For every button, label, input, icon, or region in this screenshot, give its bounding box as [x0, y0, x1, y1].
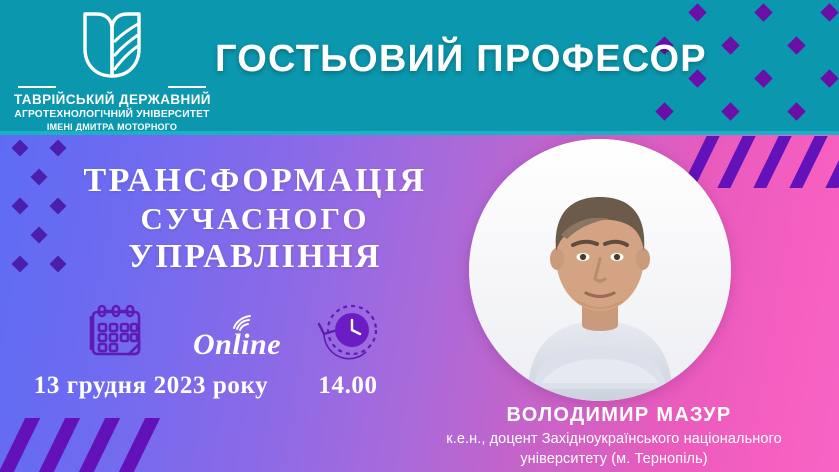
event-time: 14.00 [300, 372, 396, 400]
online-label: Online [193, 328, 281, 361]
speaker-description-line-2: університету (м. Тернопіль) [389, 449, 839, 469]
logo-line-2: АГРОТЕХНОЛОГІЧНИЙ УНІВЕРСИТЕТ [14, 108, 210, 121]
event-title-line-3: УПРАВЛІННЯ [40, 238, 470, 276]
header-accent-line [0, 131, 839, 135]
bottom-stripe-decoration [0, 418, 180, 472]
header-band: ТАВРІЙСЬКИЙ ДЕРЖАВНИЙ АГРОТЕХНОЛОГІЧНИЙ … [0, 0, 839, 135]
event-poster: ТАВРІЙСЬКИЙ ДЕРЖАВНИЙ АГРОТЕХНОЛОГІЧНИЙ … [0, 0, 839, 472]
tulip-leaf-logo-icon [77, 8, 147, 80]
event-info-row: Online 13 грудня 2023 року 14.00 [0, 300, 470, 420]
speaker-name: ВОЛОДИМИР МАЗУР [399, 404, 839, 427]
clock-arrow-icon [310, 300, 382, 366]
calendar-icon [85, 302, 147, 364]
logo-line-1: ТАВРІЙСЬКИЙ ДЕРЖАВНИЙ [14, 92, 210, 108]
event-title-line-2: СУЧАСНОГО [40, 200, 470, 238]
event-title-line-1: ТРАНСФОРМАЦІЯ [40, 162, 470, 200]
logo-divider [14, 82, 210, 92]
university-logo: ТАВРІЙСЬКИЙ ДЕРЖАВНИЙ АГРОТЕХНОЛОГІЧНИЙ … [14, 8, 210, 133]
event-date: 13 грудня 2023 року [6, 372, 296, 400]
speaker-description-line-1: к.е.н., доцент Західноукраїнського націо… [389, 429, 839, 449]
speaker-description: к.е.н., доцент Західноукраїнського націо… [389, 429, 839, 469]
calendar-icon-wrap [78, 302, 154, 369]
clock-icon-wrap [300, 300, 392, 371]
speaker-portrait [469, 139, 731, 401]
speaker-photo-illustration [469, 139, 731, 401]
event-title: ТРАНСФОРМАЦІЯ СУЧАСНОГО УПРАВЛІННЯ [40, 162, 470, 276]
online-badge: Online [172, 312, 302, 362]
poster-header-title: ГОСТЬОВИЙ ПРОФЕСОР [215, 38, 675, 81]
right-stripe-decoration [672, 136, 839, 188]
